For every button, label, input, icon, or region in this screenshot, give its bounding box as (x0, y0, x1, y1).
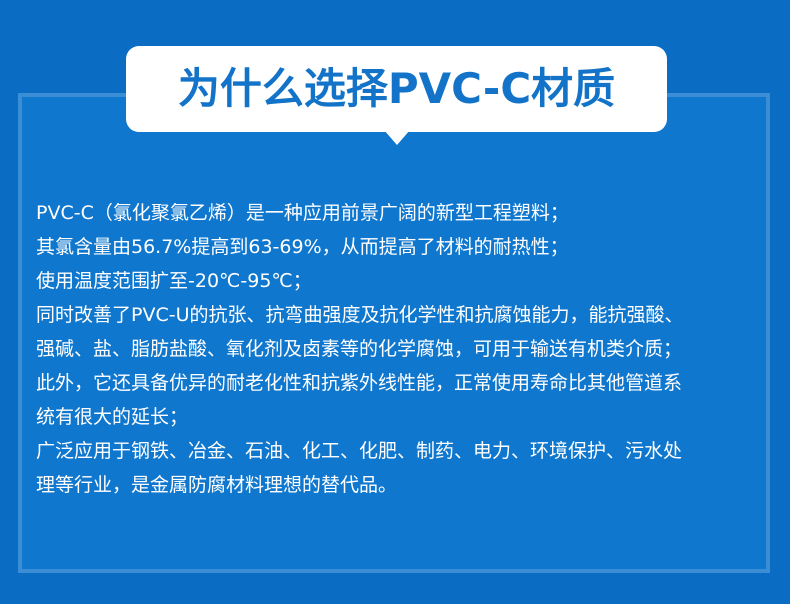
body-line: 使用温度范围扩至-20℃-95℃； (36, 264, 758, 298)
title-banner: 为什么选择PVC-C材质 (126, 46, 667, 132)
page-title: 为什么选择PVC-C材质 (178, 68, 615, 110)
body-line: 强碱、盐、脂肪盐酸、氧化剂及卤素等的化学腐蚀，可用于输送有机类介质； (36, 332, 758, 366)
body-line: 广泛应用于钢铁、冶金、石油、化工、化肥、制药、电力、环境保护、污水处 (36, 434, 758, 468)
body-line: 统有很大的延长； (36, 400, 758, 434)
body-line: 理等行业，是金属防腐材料理想的替代品。 (36, 468, 758, 502)
body-line: 同时改善了PVC-U的抗张、抗弯曲强度及抗化学性和抗腐蚀能力，能抗强酸、 (36, 298, 758, 332)
banner-pointer-icon (384, 130, 410, 145)
body-line: 其氯含量由56.7%提高到63-69%，从而提高了材料的耐热性； (36, 230, 758, 264)
body-line: 此外，它还具备优异的耐老化性和抗紫外线性能，正常使用寿命比其他管道系 (36, 366, 758, 400)
body-copy: PVC-C（氯化聚氯乙烯）是一种应用前景广阔的新型工程塑料； 其氯含量由56.7… (36, 196, 758, 502)
body-line: PVC-C（氯化聚氯乙烯）是一种应用前景广阔的新型工程塑料； (36, 196, 758, 230)
promo-poster: 为什么选择PVC-C材质 PVC-C（氯化聚氯乙烯）是一种应用前景广阔的新型工程… (0, 0, 790, 604)
